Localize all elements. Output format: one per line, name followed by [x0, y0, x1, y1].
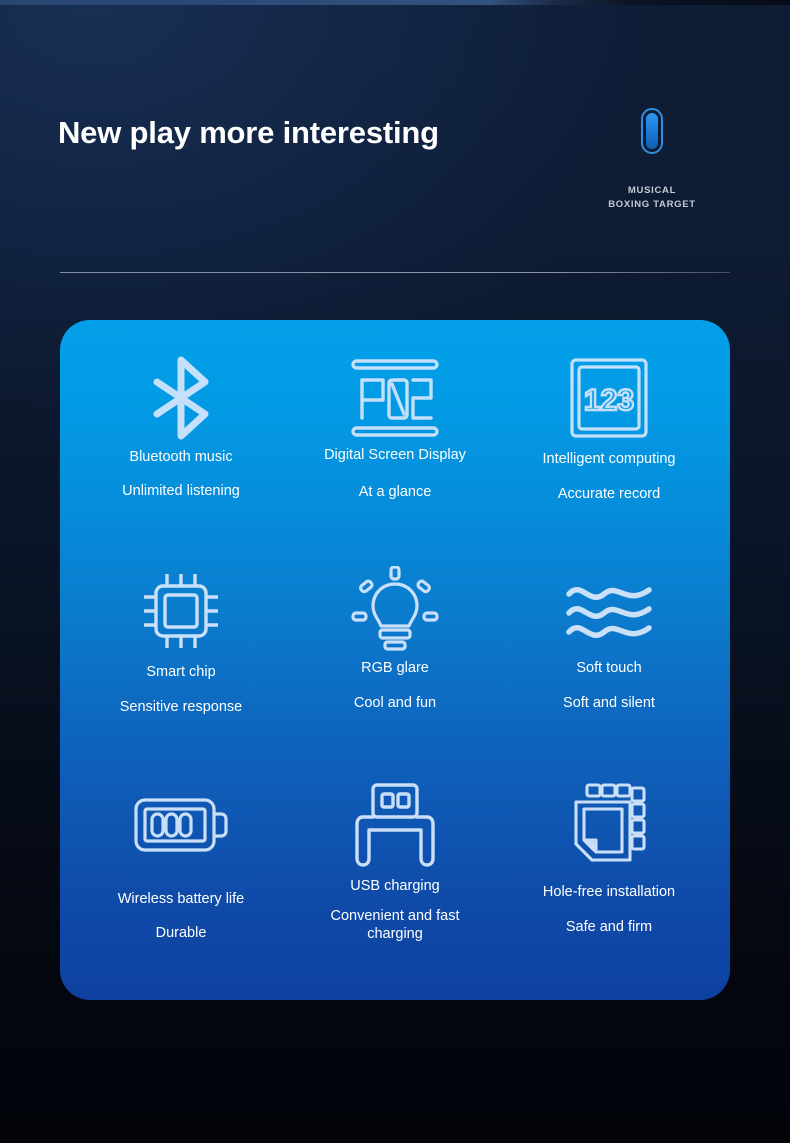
feature-item-soft-touch[interactable]: Soft touch Soft and silent [502, 555, 716, 768]
feature-title: Hole-free installation [543, 884, 675, 901]
feature-subtitle: Convenient and fast charging [325, 907, 465, 943]
header-divider [60, 272, 730, 273]
brand-name-line1: MUSICAL [562, 184, 742, 198]
feature-title: Smart chip [146, 664, 215, 681]
feature-item-bluetooth-music[interactable]: Bluetooth music Unlimited listening [74, 342, 288, 555]
sound-waves-icon [564, 567, 654, 655]
battery-icon [133, 781, 229, 869]
cpu-chip-icon [138, 567, 224, 655]
hero-section: New play more interesting MUSICAL BOXING… [0, 0, 790, 320]
feature-subtitle: Unlimited listening [122, 482, 240, 500]
feature-card: Bluetooth music Unlimited listening [60, 320, 730, 1000]
brand-block: MUSICAL BOXING TARGET [562, 108, 742, 213]
feature-item-usb-charging[interactable]: USB charging Convenient and fast chargin… [288, 769, 502, 982]
feature-item-intelligent-computing[interactable]: 123 Intelligent computing Accurate recor… [502, 342, 716, 555]
bluetooth-icon [143, 354, 219, 442]
feature-item-wireless-battery-life[interactable]: Wireless battery life Durable [74, 769, 288, 982]
number-counter-icon: 123 [569, 354, 649, 442]
brand-name: MUSICAL BOXING TARGET [562, 184, 742, 213]
feature-subtitle: Soft and silent [563, 694, 655, 712]
svg-text:123: 123 [584, 384, 634, 417]
feature-item-digital-screen-display[interactable]: Digital Screen Display At a glance [288, 342, 502, 555]
feature-item-smart-chip[interactable]: Smart chip Sensitive response [74, 555, 288, 768]
feature-subtitle: Safe and firm [566, 918, 652, 936]
feature-subtitle: Sensitive response [120, 698, 243, 716]
feature-title: Bluetooth music [129, 449, 232, 466]
feature-title: Digital Screen Display [324, 447, 466, 464]
usb-plug-icon [353, 781, 437, 869]
page-title: New play more interesting [58, 113, 458, 153]
feature-subtitle: Durable [156, 924, 207, 942]
feature-grid: Bluetooth music Unlimited listening [60, 320, 730, 1000]
feature-title: Intelligent computing [543, 451, 676, 468]
feature-subtitle: Accurate record [558, 485, 660, 503]
feature-item-rgb-glare[interactable]: RGB glare Cool and fun [288, 555, 502, 768]
feature-subtitle: At a glance [359, 483, 432, 501]
brand-name-line2: BOXING TARGET [562, 198, 742, 212]
digital-display-icon [349, 354, 441, 442]
feature-title: Soft touch [576, 660, 641, 677]
capsule-logo-icon [641, 108, 663, 154]
feature-subtitle: Cool and fun [354, 694, 436, 712]
feature-title: USB charging [350, 878, 439, 895]
adhesive-pad-icon [566, 781, 652, 869]
product-feature-page: New play more interesting MUSICAL BOXING… [0, 0, 790, 1143]
feature-item-hole-free-installation[interactable]: Hole-free installation Safe and firm [502, 769, 716, 982]
feature-title: Wireless battery life [118, 891, 245, 908]
lightbulb-icon [351, 567, 439, 655]
feature-title: RGB glare [361, 660, 429, 677]
